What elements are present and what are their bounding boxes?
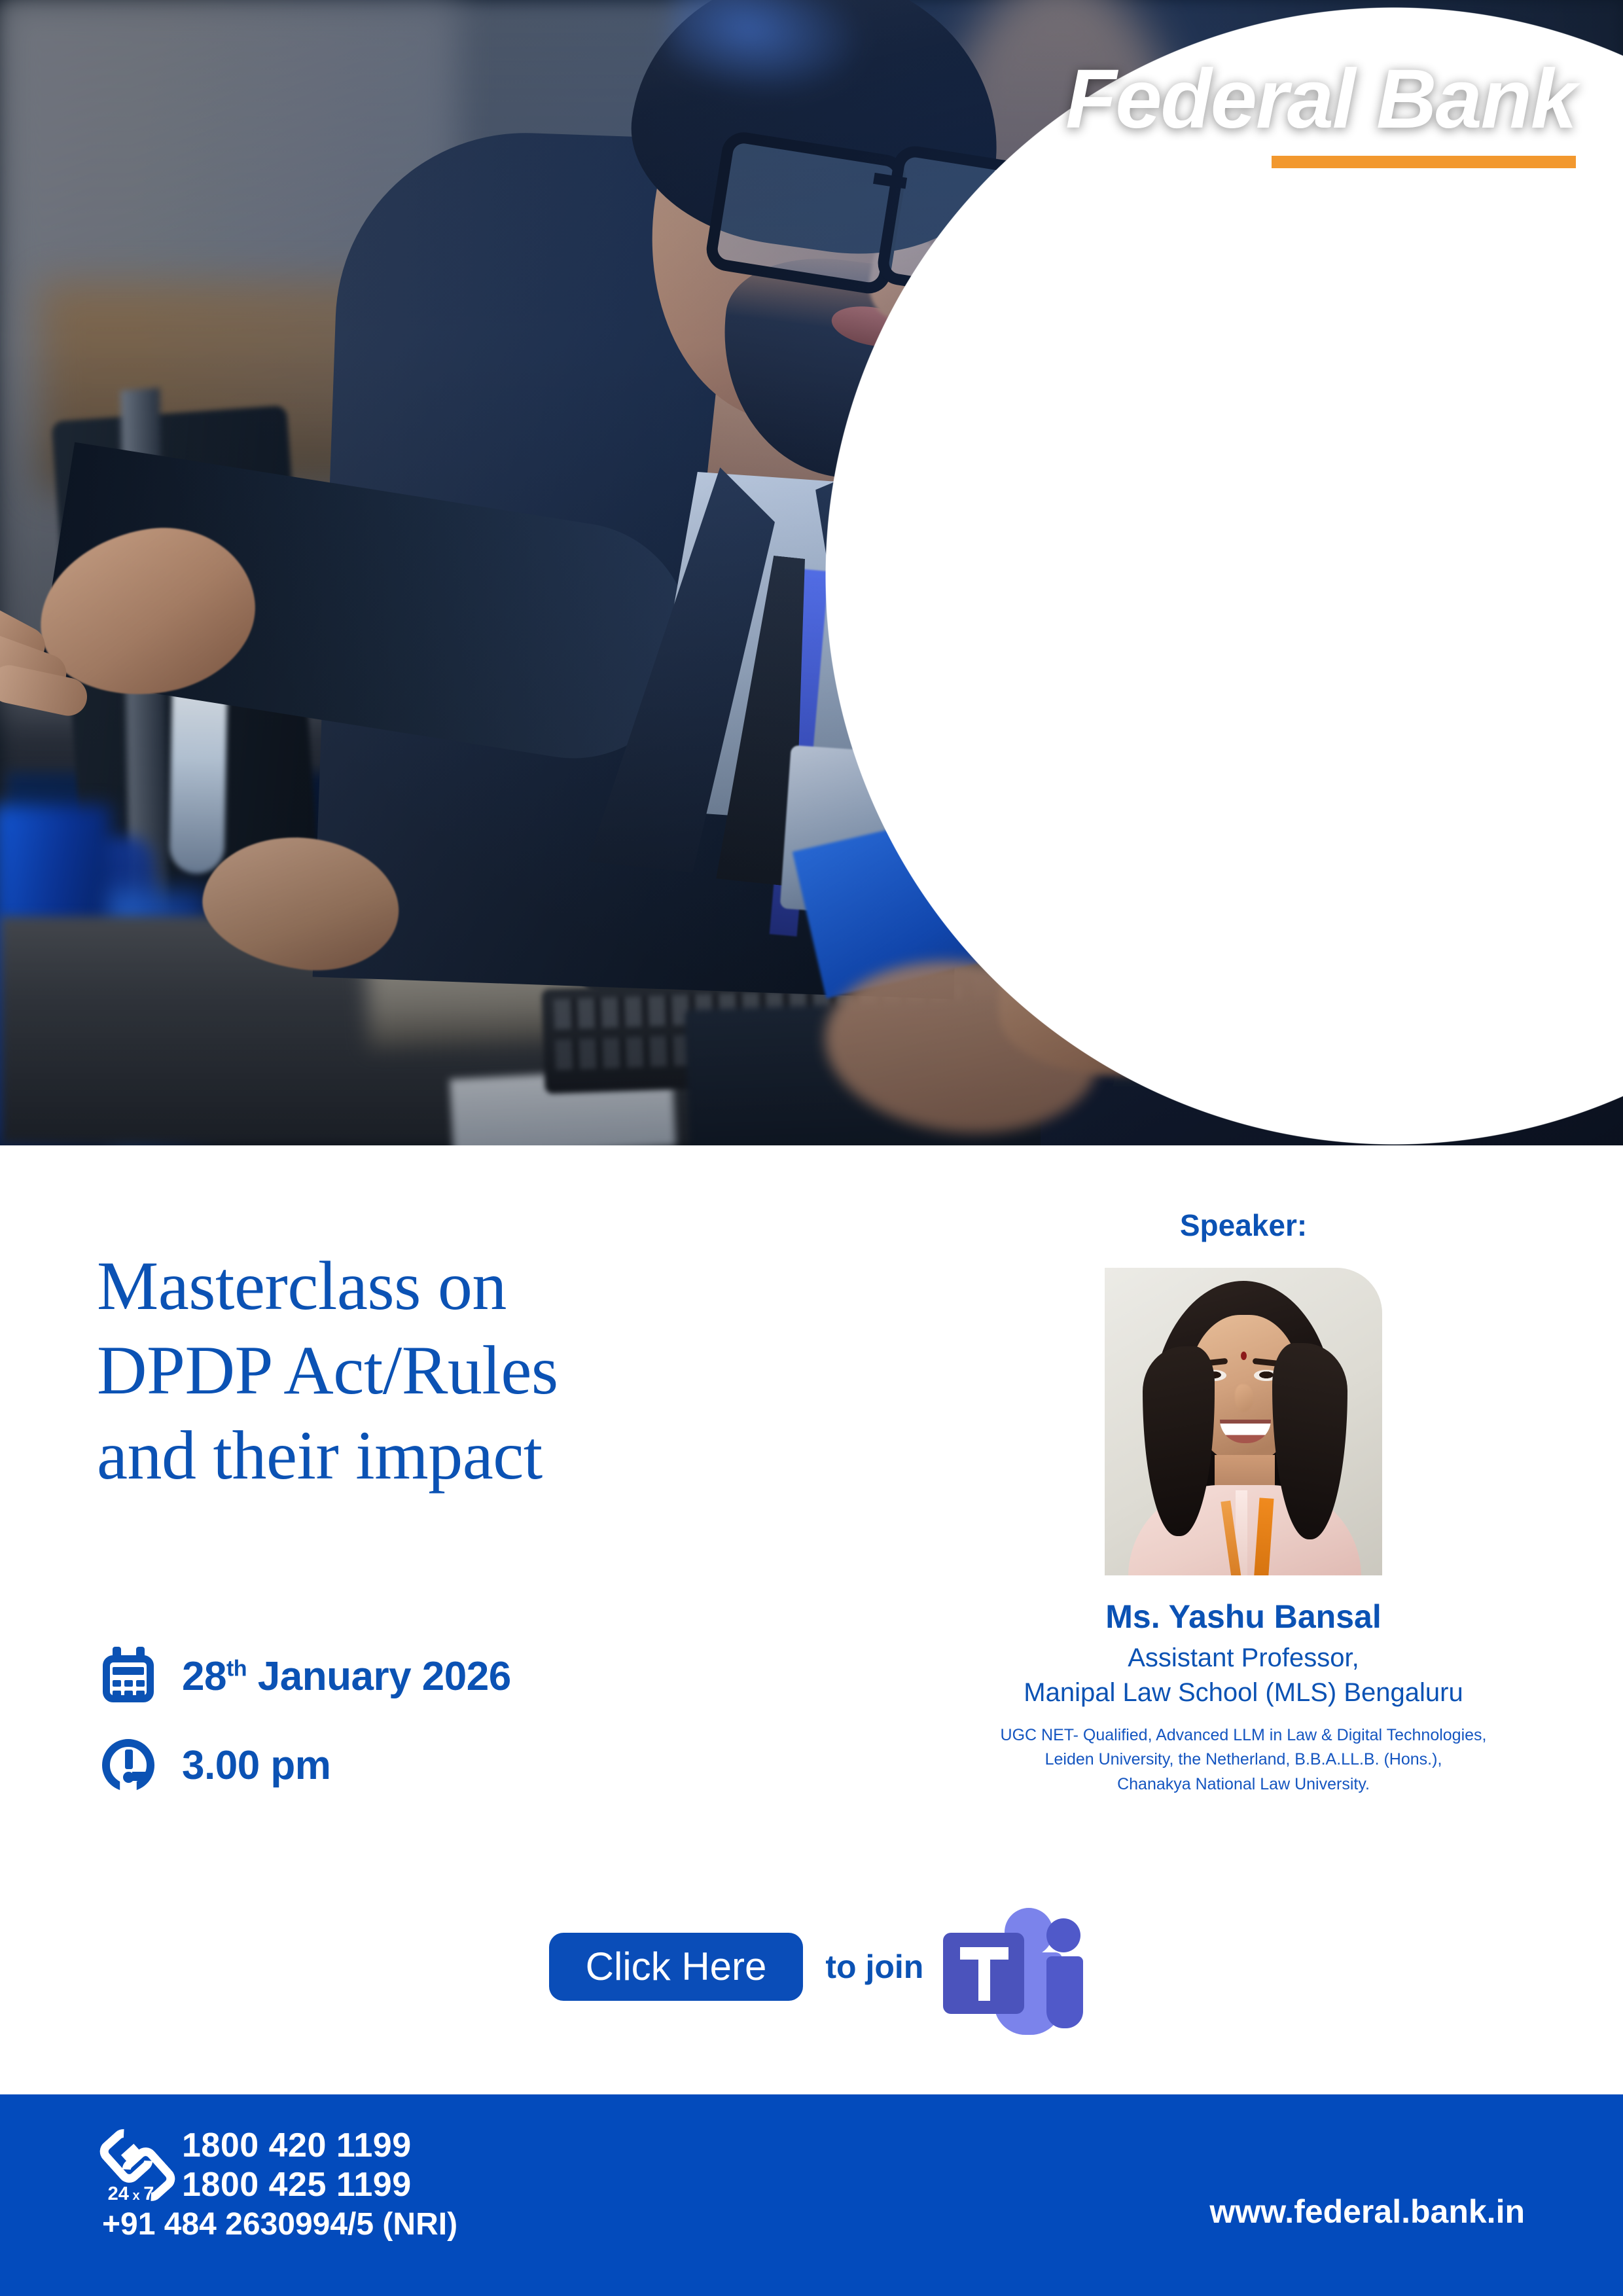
speaker-role: Assistant Professor, Manipal Law School … bbox=[936, 1641, 1551, 1710]
brand-logo-text: Federal Bank bbox=[1065, 58, 1576, 141]
speaker-cred-line-1: UGC NET- Qualified, Advanced LLM in Law … bbox=[936, 1723, 1551, 1748]
speaker-block: Speaker: Ms. Yashu Bansal Assistant Prof… bbox=[936, 1208, 1551, 1797]
phone-number-nri[interactable]: +91 484 2630994/5 (NRI) bbox=[102, 2206, 457, 2244]
title-line-1: Masterclass on bbox=[97, 1244, 869, 1328]
event-date-row: 28th January 2026 bbox=[98, 1640, 511, 1713]
page-title: Masterclass on DPDP Act/Rules and their … bbox=[97, 1244, 869, 1498]
brand-logo: Federal Bank bbox=[1065, 58, 1576, 168]
hero-photo bbox=[0, 0, 1623, 1145]
speaker-cred-line-3: Chanakya National Law University. bbox=[936, 1772, 1551, 1797]
event-date: 28th January 2026 bbox=[182, 1653, 511, 1700]
title-line-2: DPDP Act/Rules bbox=[97, 1328, 869, 1412]
footer-contact: 24 x 7 1800 420 1199 1800 425 1199 +91 4… bbox=[92, 2126, 457, 2243]
website-link[interactable]: www.federal.bank.in bbox=[1209, 2193, 1525, 2231]
event-date-day: 28 bbox=[182, 1654, 226, 1699]
speaker-photo bbox=[1105, 1268, 1382, 1575]
speaker-role-line-2: Manipal Law School (MLS) Bengaluru bbox=[936, 1676, 1551, 1710]
event-date-rest: January 2026 bbox=[247, 1654, 511, 1699]
phone-icon: 24 x 7 bbox=[92, 2126, 170, 2205]
hero-banner: Federal Bank bbox=[0, 0, 1623, 1145]
speaker-role-line-1: Assistant Professor, bbox=[936, 1641, 1551, 1676]
speaker-credentials: UGC NET- Qualified, Advanced LLM in Law … bbox=[936, 1723, 1551, 1797]
phone-number-2[interactable]: 1800 425 1199 bbox=[182, 2165, 457, 2204]
to-join-label: to join bbox=[825, 1948, 923, 1986]
microsoft-teams-icon[interactable] bbox=[943, 1901, 1074, 2032]
title-line-3: and their impact bbox=[97, 1413, 869, 1498]
speaker-cred-line-2: Leiden University, the Netherland, B.B.A… bbox=[936, 1748, 1551, 1772]
poster-root: Federal Bank Masterclass on DPDP Act/Rul… bbox=[0, 0, 1623, 2296]
event-time-row: 3.00 pm bbox=[98, 1729, 511, 1802]
event-time: 3.00 pm bbox=[182, 1742, 330, 1789]
phone-number-1[interactable]: 1800 420 1199 bbox=[182, 2126, 457, 2165]
footer-bar: 24 x 7 1800 420 1199 1800 425 1199 +91 4… bbox=[0, 2094, 1623, 2296]
brand-logo-underline bbox=[1272, 156, 1576, 168]
join-cta: Click Here to join bbox=[0, 1901, 1623, 2032]
click-here-button[interactable]: Click Here bbox=[549, 1933, 804, 2001]
calendar-icon bbox=[98, 1646, 158, 1706]
speaker-name: Ms. Yashu Bansal bbox=[936, 1598, 1551, 1636]
event-date-suffix: th bbox=[226, 1656, 247, 1681]
speaker-label: Speaker: bbox=[936, 1208, 1551, 1243]
clock-icon bbox=[98, 1735, 158, 1795]
footer-phone-numbers: 1800 420 1199 1800 425 1199 +91 484 2630… bbox=[182, 2126, 457, 2243]
event-meta: 28th January 2026 3.00 pm bbox=[98, 1640, 511, 1818]
